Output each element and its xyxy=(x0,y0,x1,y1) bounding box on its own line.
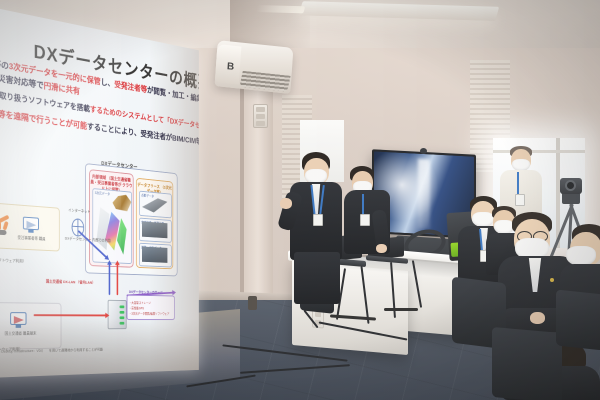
mlit-icon-caption: 国土交通省 職員端末 xyxy=(5,332,37,337)
presenter-hand xyxy=(280,198,292,209)
backperson-badge xyxy=(515,194,525,206)
floor-adapter-2 xyxy=(384,308,418,311)
server-rack-icon xyxy=(108,300,127,329)
presenter-legs xyxy=(294,252,340,304)
presenter-badge xyxy=(313,214,323,226)
slide-content: DXデータセンターの概要 CIM/CIM等の3次元データを一元的に保管し、受発注… xyxy=(0,6,199,378)
aerial-caption: 点群データ xyxy=(141,193,154,199)
arrow-server-up-blue xyxy=(109,264,110,295)
server-note-line-3: ・3次元データ閲覧/編集ソフトウェア xyxy=(129,311,169,316)
internet-label: インターネット xyxy=(68,208,90,214)
server-note-line-2: ・高性能GPU xyxy=(129,306,144,311)
wall-outlet-plate xyxy=(248,296,257,310)
projection-screen: DXデータセンターの概要 CIM/CIM等の3次元データを一元的に保管し、受発注… xyxy=(0,6,199,378)
camera-lens-icon xyxy=(565,180,576,191)
arrow-server-up-red xyxy=(117,264,118,295)
pointcloud-caption: 3次元データ xyxy=(95,190,110,196)
slide-footer-note: ＊仮想デスクトップ基盤（Virtual Desktop Infrastructu… xyxy=(0,348,103,356)
display-camera-icon xyxy=(420,148,427,154)
photo-scene: DXデータセンターの概要 CIM/CIM等の3次元データを一元的に保管し、受発注… xyxy=(0,0,600,400)
seat3-hand xyxy=(530,312,545,324)
road-thumbnail xyxy=(142,247,167,263)
staff-operator xyxy=(344,166,396,272)
air-conditioner-badge: B xyxy=(227,61,235,73)
monitor-icon xyxy=(23,217,39,235)
chair-2 xyxy=(492,327,562,400)
satellite-thumbnail xyxy=(142,221,167,238)
private-actor-sub: （DXデータセンター内のソフトウェア利用） xyxy=(0,257,26,265)
operator-lanyard xyxy=(362,194,364,214)
server-note-line-1: ・大容量ストレージ xyxy=(129,300,151,305)
server-note-title: DXデータセンターのサーバ xyxy=(129,290,163,295)
excavator-icon xyxy=(0,216,10,235)
arrow-mlit-to-server xyxy=(34,314,106,316)
govnet-label: 国土交通省 DX-LAN （省内LAN） xyxy=(46,280,95,286)
air-conditioner: B xyxy=(215,40,294,94)
bullet1-part1: CIM/CIM等の xyxy=(0,53,9,71)
chair-3 xyxy=(556,289,600,350)
bullet1-part3: し、 xyxy=(101,77,115,89)
seat3-lapel-pin xyxy=(550,278,554,282)
wall-switch[interactable] xyxy=(253,104,268,128)
operator-hand xyxy=(376,244,387,253)
server-note-box: DXデータセンターのサーバ ・大容量ストレージ ・高性能GPU ・3次元データ閲… xyxy=(127,295,175,320)
operator-badge xyxy=(360,214,370,226)
seat4-mask xyxy=(566,246,596,266)
backperson-lanyard xyxy=(517,172,519,196)
monitor-icon-2 xyxy=(10,312,26,330)
